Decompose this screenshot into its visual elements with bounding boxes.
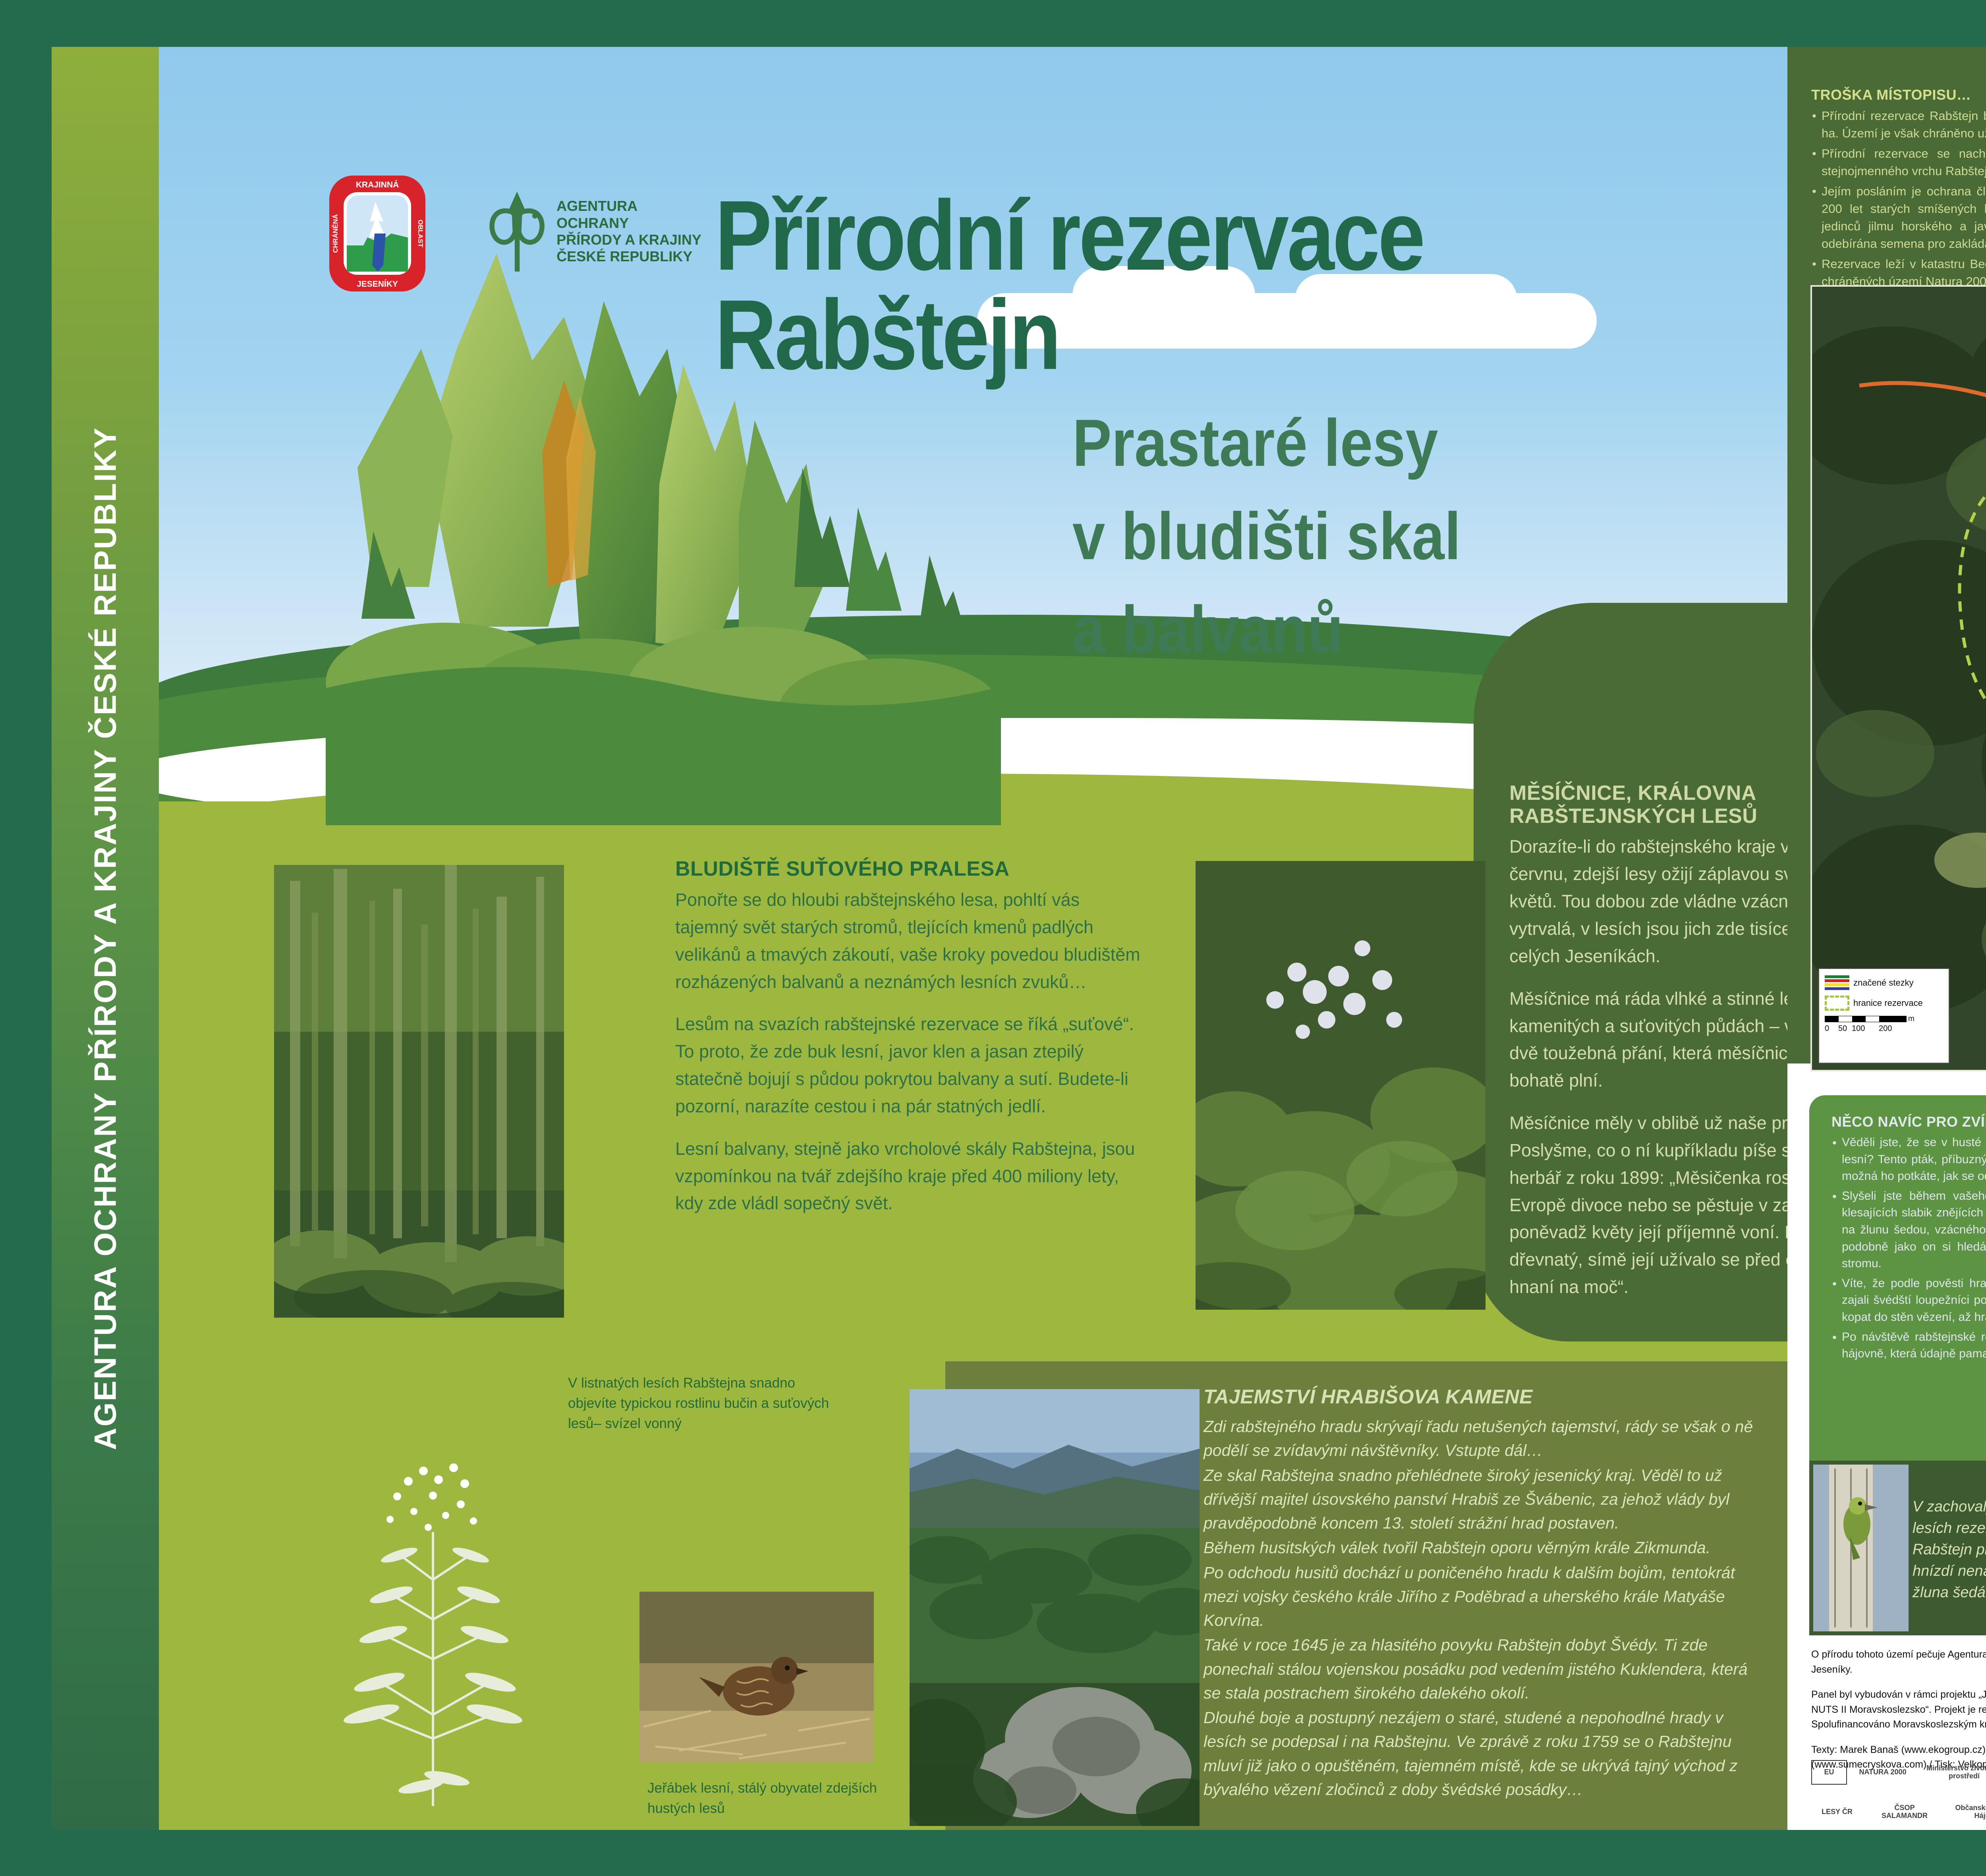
photo-mesicnice-plant xyxy=(1196,861,1486,1310)
hrabis-heading: TAJEMSTVÍ HRABIŠOVA KAMENE xyxy=(1204,1385,1760,1408)
bludiste-para-1: Ponořte se do hloubi rabštejnského lesa,… xyxy=(675,886,1144,996)
aerial-map[interactable]: Rabštejnek Rabštejn PR Rabštejn Pustá Ve… xyxy=(1810,285,1986,1071)
legend-boundary-label: hranice rezervace xyxy=(1853,998,1923,1008)
aopk-line-2: PŘÍRODY A KRAJINY xyxy=(556,232,707,248)
bludiste-para-3: Lesní balvany, stejně jako vrcholové ská… xyxy=(675,1135,1144,1218)
mesicnice-body: Dorazíte-li do rabštejnského kraje v kvě… xyxy=(1509,833,1787,1301)
footer-project-text: Panel byl vybudován v rámci projektu „Je… xyxy=(1811,1687,1986,1732)
aopk-line-3: ČESKÉ REPUBLIKY xyxy=(556,248,707,265)
aopk-line-1: AGENTURA OCHRANY xyxy=(556,198,707,232)
aopk-leaf-icon xyxy=(485,186,549,277)
map-imagery: Rabštejnek Rabštejn PR Rabštejn Pustá Ve… xyxy=(1812,287,1986,1070)
legend-boundary-row: hranice rezervace xyxy=(1825,996,1943,1011)
mesicnice-para-1: Dorazíte-li do rabštejnského kraje v kvě… xyxy=(1509,833,1787,970)
bludiste-para-2: Lesům na svazích rabštejnské rezervace s… xyxy=(675,1011,1144,1120)
neco-bullet-3: Víte, že podle pověsti hrad Rabštejn pob… xyxy=(1831,1275,1986,1326)
right-sidebar: TROŠKA MÍSTOPISU… Přírodní rezervace Rab… xyxy=(1787,47,1986,1830)
trail-swatch-red xyxy=(1825,979,1849,982)
photo-zluna-woodpecker xyxy=(1813,1465,1909,1631)
footer-care-text: O přírodu tohoto území pečuje Agentura o… xyxy=(1811,1647,1986,1677)
subtitle-line-3: a balvanů xyxy=(1072,583,1461,676)
bottom-illustration-strip: V zachovalých lesích rezervace Rabštejn … xyxy=(1809,1461,1986,1635)
scale-tick-1: 50 xyxy=(1838,1024,1852,1033)
scale-seg-4 xyxy=(1866,1016,1879,1022)
mistopis-bullet-2: Přírodní rezervace se nachází v nadmořsk… xyxy=(1811,145,1986,180)
mesicnice-para-2: Měsíčnice má ráda vlhké a stinné lesy na… xyxy=(1509,985,1787,1094)
section-mistopis: TROŠKA MÍSTOPISU… Přírodní rezervace Rab… xyxy=(1811,87,1986,293)
hrabis-para-3: Během husitských válek tvořil Rabštejn o… xyxy=(1204,1536,1760,1559)
hrabis-para-6: Dlouhé boje a postupný nezájem o staré, … xyxy=(1204,1706,1760,1801)
mesicnice-heading-line-1: MĚSÍČNICE, KRÁLOVNA xyxy=(1509,782,1787,805)
subtitle-line-2: v bludišti skal xyxy=(1072,490,1461,583)
caption-svizel: V listnatých lesích Rabštejna snadno obj… xyxy=(568,1373,846,1434)
neco-bullet-1: Věděli jste, že se v husté džungli lesa … xyxy=(1831,1134,1986,1185)
trail-swatch-blue xyxy=(1825,987,1849,990)
map-legend: značené stezky hranice rezervace xyxy=(1818,968,1949,1063)
photo-jerabek-bird xyxy=(639,1592,874,1762)
svg-text:JESENÍKY: JESENÍKY xyxy=(357,280,398,289)
neco-bullet-4: Po návštěvě rabštejnské rezervace můžete… xyxy=(1831,1329,1986,1363)
photo-landscape-view xyxy=(910,1389,1200,1826)
hrabis-para-1: Zdi rabštejného hradu skrývají řadu netu… xyxy=(1204,1415,1760,1463)
scale-seg-1 xyxy=(1825,1016,1839,1022)
hrabis-para-4: Po odchodu husitů dochází u poničeného h… xyxy=(1204,1561,1760,1633)
bludiste-body: Ponořte se do hloubi rabštejnského lesa,… xyxy=(675,886,1144,1217)
neco-bullet-2: Slyšeli jste během vašeho výletu v lesíc… xyxy=(1831,1188,1986,1272)
neco-heading: NĚCO NAVÍC PRO ZVÍDAVÉ… xyxy=(1831,1114,1986,1130)
scale-unit: m xyxy=(1908,1015,1915,1023)
scale-seg-5 xyxy=(1879,1016,1906,1022)
trail-swatch-green xyxy=(1825,975,1849,978)
scalebar-bar xyxy=(1825,1016,1907,1022)
legend-trails-row: značené stezky xyxy=(1825,975,1943,990)
scale-tick-0: 0 xyxy=(1825,1024,1838,1033)
legend-trails-label: značené stezky xyxy=(1853,978,1914,988)
photo-suttove-forest xyxy=(274,865,564,1318)
hrabis-para-2: Ze skal Rabštejna snadno přehlédnete šir… xyxy=(1204,1463,1760,1535)
mistopis-bullet-1: Přírodní rezervace Rabštejn byla vyhláše… xyxy=(1811,107,1986,142)
mistopis-bullets: Přírodní rezervace Rabštejn byla vyhláše… xyxy=(1811,107,1986,290)
logo-eu: EU xyxy=(1811,1760,1847,1785)
subtitle-line-1: Prastaré lesy xyxy=(1072,396,1461,490)
svg-text:CHRÁNĚNÁ: CHRÁNĚNÁ xyxy=(332,214,339,253)
map-scalebar: m xyxy=(1825,1015,1943,1023)
section-bludiste: BLUDIŠTĚ SUŤOVÉHO PRALESA Ponořte se do … xyxy=(675,857,1144,1217)
logo-hajenka: Občanské sdružení Hájenka xyxy=(1946,1800,1986,1824)
footer-sponsor-logos: EU NATURA 2000 Ministerstvo životního pr… xyxy=(1811,1758,1986,1826)
agency-vertical-label: AGENTURA OCHRANY PŘÍRODY A KRAJINY ČESKÉ… xyxy=(87,427,124,1450)
page-subtitle: Prastaré lesy v bludišti skal a balvanů xyxy=(1072,396,1461,677)
mesicnice-heading: MĚSÍČNICE, KRÁLOVNA RABŠTEJNSKÝCH LESŮ xyxy=(1509,782,1787,828)
svg-text:OBLAST: OBLAST xyxy=(417,220,424,248)
hrabis-body: Zdi rabštejného hradu skrývají řadu netu… xyxy=(1204,1415,1760,1801)
scale-seg-2 xyxy=(1839,1016,1852,1022)
aopk-logo-text: AGENTURA OCHRANY PŘÍRODY A KRAJINY ČESKÉ… xyxy=(556,198,707,265)
mistopis-bullet-3: Jejím posláním je ochrana člověkem málo … xyxy=(1811,183,1986,253)
mesicnice-para-3: Měsíčnice měly v oblibě už naše prababič… xyxy=(1509,1110,1787,1301)
hrabis-para-5: Také v roce 1645 je za hlasitého povyku … xyxy=(1204,1633,1760,1705)
logo-lesy-cr: LESY ČR xyxy=(1811,1800,1863,1824)
logo-salamandr: ČSOP SALAMANDR xyxy=(1875,1800,1934,1824)
caption-zluna: V zachovalých lesích rezervace Rabštejn … xyxy=(1913,1496,1986,1604)
page-title: Přírodní rezervace Rabštejn xyxy=(715,186,1637,384)
scale-tick-3: 200 xyxy=(1879,1024,1892,1033)
left-vertical-bar: AGENTURA OCHRANY PŘÍRODY A KRAJINY ČESKÉ… xyxy=(52,47,159,1830)
trail-swatch-yellow xyxy=(1825,983,1849,986)
boundary-swatch xyxy=(1825,996,1849,1011)
main-content: KRAJINNÁ JESENÍKY CHRÁNĚNÁ OBLAST AGENTU… xyxy=(159,47,1787,1830)
logo-ministerstvo: Ministerstvo životního prostředí xyxy=(1918,1760,1986,1785)
panel-inner: AGENTURA OCHRANY PŘÍRODY A KRAJINY ČESKÉ… xyxy=(52,47,1986,1830)
aopk-logo: AGENTURA OCHRANY PŘÍRODY A KRAJINY ČESKÉ… xyxy=(485,182,707,281)
logo-natura2000: NATURA 2000 xyxy=(1859,1760,1907,1785)
info-panel: AGENTURA OCHRANY PŘÍRODY A KRAJINY ČESKÉ… xyxy=(0,0,1986,1876)
mistopis-heading: TROŠKA MÍSTOPISU… xyxy=(1811,87,1986,103)
neco-bullets: Věděli jste, že se v husté džungli lesa … xyxy=(1831,1134,1986,1363)
scale-tick-labels: 0 50 100 200 xyxy=(1825,1024,1943,1033)
caption-jerabek: Jeřábek lesní, stálý obyvatel zdejších h… xyxy=(647,1778,925,1819)
svg-text:KRAJINNÁ: KRAJINNÁ xyxy=(356,180,399,189)
svizel-vonny-illustration xyxy=(302,1437,572,1814)
bludiste-heading: BLUDIŠTĚ SUŤOVÉHO PRALESA xyxy=(675,857,1144,881)
section-mesicnice: MĚSÍČNICE, KRÁLOVNA RABŠTEJNSKÝCH LESŮ D… xyxy=(1509,782,1787,1301)
mesicnice-heading-line-2: RABŠTEJNSKÝCH LESŮ xyxy=(1509,805,1787,828)
trail-color-swatches xyxy=(1825,975,1849,990)
scale-tick-2: 100 xyxy=(1852,1024,1879,1033)
scale-seg-3 xyxy=(1852,1016,1866,1022)
chko-jeseniky-logo: KRAJINNÁ JESENÍKY CHRÁNĚNÁ OBLAST xyxy=(328,174,427,293)
